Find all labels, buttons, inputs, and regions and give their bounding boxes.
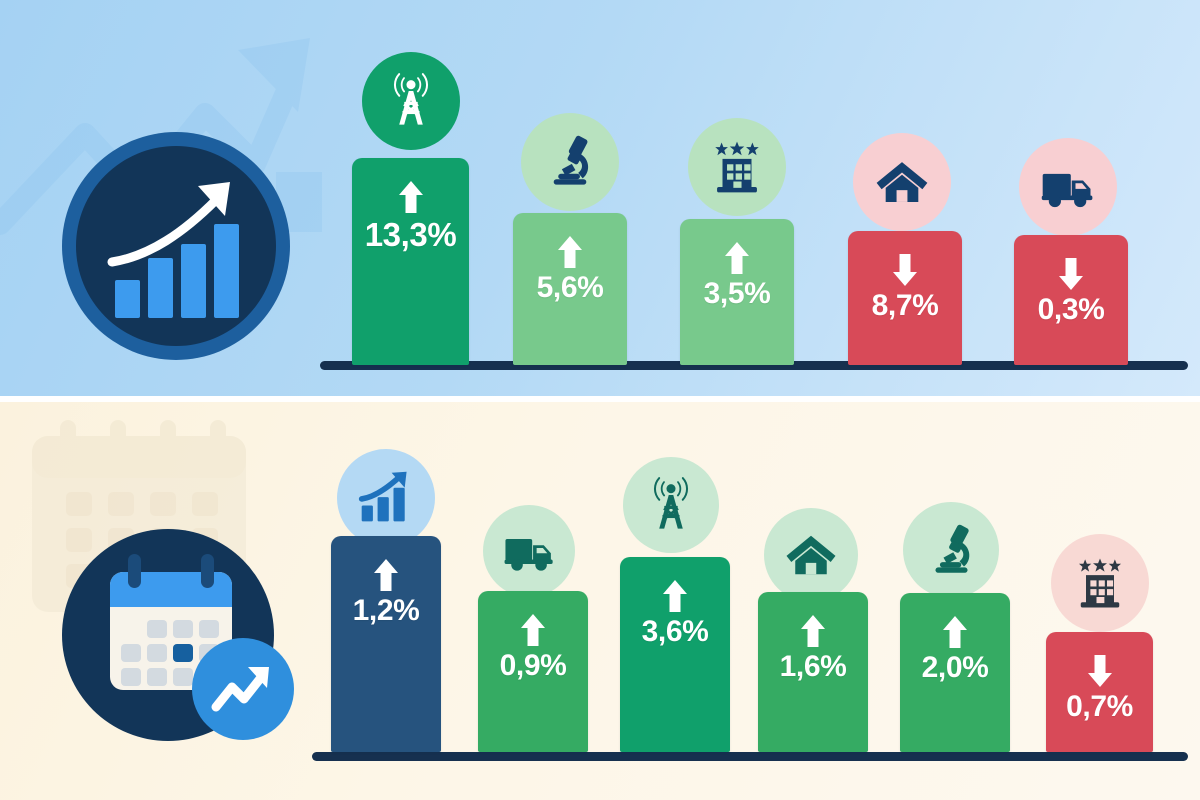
icon-badge-antenna-tower: [623, 457, 719, 553]
icon-badge-microscope: [521, 113, 619, 211]
icon-badge-delivery-truck: [483, 505, 575, 597]
bar-hotel-three-star: 3,5%: [680, 219, 794, 365]
icon-badge-hotel-three-star: [688, 118, 786, 216]
bar-value-label: 3,5%: [704, 279, 771, 309]
arrow-up-icon: [557, 235, 583, 269]
arrow-up-icon: [942, 615, 968, 649]
arrow-up-icon: [520, 613, 546, 647]
bar-hotels: 0,7%: [1046, 632, 1153, 752]
hotel-three-star-icon: [1072, 555, 1128, 611]
antenna-tower-icon: [382, 72, 440, 130]
bar-delivery-truck: 0,3%: [1014, 235, 1128, 365]
top-panel: 13,3% 5,6%: [0, 0, 1200, 396]
icon-badge-house: [853, 133, 951, 231]
bar-housing: 1,6%: [758, 592, 868, 752]
bar-antenna-tower: 13,3%: [352, 158, 469, 365]
growth-bar-chart-icon: [356, 469, 416, 527]
bar-house: 8,7%: [848, 231, 962, 365]
growth-chart-medallion: [58, 128, 294, 364]
icon-badge-antenna-tower: [362, 52, 460, 150]
bar-telecom: 3,6%: [620, 557, 730, 752]
infographic-root: 13,3% 5,6%: [0, 0, 1200, 800]
bar-value-label: 5,6%: [537, 273, 604, 303]
icon-badge-hotel-three-star: [1051, 534, 1149, 632]
bar-value-label: 13,3%: [365, 218, 457, 251]
calendar-trend-medallion: [55, 527, 305, 755]
bar-value-label: 2,0%: [922, 653, 989, 683]
hotel-three-star-icon: [708, 138, 766, 196]
icon-badge-microscope: [903, 502, 999, 598]
icon-badge-growth-bar-chart: [337, 449, 435, 547]
icon-badge-delivery-truck: [1019, 138, 1117, 236]
arrow-up-icon: [724, 241, 750, 275]
house-icon: [873, 153, 931, 211]
arrow-down-icon: [892, 253, 918, 287]
arrow-up-icon: [662, 579, 688, 613]
bottom-panel-baseline: [312, 752, 1188, 761]
delivery-truck-icon: [501, 523, 558, 580]
bar-transport: 0,9%: [478, 591, 588, 752]
bar-growth-index: 1,2%: [331, 536, 441, 752]
bar-value-label: 1,6%: [780, 652, 847, 682]
icon-badge-house: [764, 508, 858, 602]
arrow-down-icon: [1058, 257, 1084, 291]
arrow-up-icon: [398, 180, 424, 214]
house-icon: [783, 527, 839, 583]
bar-value-label: 0,7%: [1066, 692, 1133, 722]
bar-research: 2,0%: [900, 593, 1010, 752]
antenna-tower-icon: [642, 476, 700, 534]
arrow-down-icon: [1087, 654, 1113, 688]
bar-value-label: 8,7%: [872, 291, 939, 321]
microscope-icon: [923, 522, 980, 579]
bar-value-label: 3,6%: [642, 617, 709, 647]
arrow-up-icon: [373, 558, 399, 592]
microscope-icon: [541, 133, 599, 191]
bar-microscope: 5,6%: [513, 213, 627, 365]
delivery-truck-icon: [1038, 157, 1098, 217]
bar-value-label: 0,3%: [1038, 295, 1105, 325]
bottom-panel: 1,2% 0,9%: [0, 402, 1200, 800]
arrow-up-icon: [800, 614, 826, 648]
bar-value-label: 1,2%: [353, 596, 420, 626]
bar-value-label: 0,9%: [500, 651, 567, 681]
